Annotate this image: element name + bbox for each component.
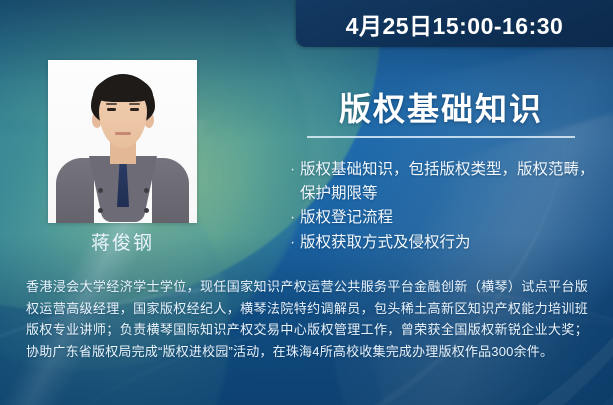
topic-list: · 版权基础知识，包括版权类型，版权范畴，保护期限等 · 版权登记流程 · 版权… xyxy=(290,158,602,255)
portrait-eyebrow-right xyxy=(129,103,140,105)
portrait-suit-button xyxy=(144,208,149,213)
portrait-eye-left xyxy=(107,108,116,111)
date-time-badge: 4月25日15:00-16:30 xyxy=(296,0,613,47)
portrait-fringe xyxy=(93,76,153,102)
topic-list-item-label: 版权获取方式及侵权行为 xyxy=(300,231,602,255)
topic-list-item: · 版权登记流程 xyxy=(290,206,602,230)
speaker-portrait-image xyxy=(48,60,197,223)
portrait-suit-button xyxy=(98,188,103,193)
date-time-text: 4月25日15:00-16:30 xyxy=(346,7,564,41)
title-underline xyxy=(307,136,575,138)
topic-list-item: · 版权基础知识，包括版权类型，版权范畴，保护期限等 xyxy=(290,158,602,205)
lecture-title-block: 版权基础知识 xyxy=(286,92,596,138)
portrait-suit-button xyxy=(98,208,103,213)
portrait-mouth xyxy=(115,132,131,135)
seminar-poster: 4月25日15:00-16:30 蒋俊钢 xyxy=(0,0,613,405)
speaker-photo-frame xyxy=(48,60,197,223)
bullet-dot-icon: · xyxy=(290,231,300,255)
portrait-suit-button xyxy=(144,188,149,193)
topic-list-item: · 版权获取方式及侵权行为 xyxy=(290,231,602,255)
portrait-eye-right xyxy=(130,108,139,111)
bullet-dot-icon: · xyxy=(290,206,300,230)
bullet-dot-icon: · xyxy=(290,158,300,182)
speaker-biography: 香港浸会大学经济学士学位，现任国家知识产权运营公共服务平台金融创新（横琴）试点平… xyxy=(26,276,588,362)
portrait-eyebrow-left xyxy=(106,103,117,105)
speaker-name: 蒋俊钢 xyxy=(48,228,197,255)
lecture-title: 版权基础知识 xyxy=(286,92,596,127)
topic-list-item-label: 版权登记流程 xyxy=(300,206,602,230)
topic-list-item-label: 版权基础知识，包括版权类型，版权范畴，保护期限等 xyxy=(300,158,602,205)
